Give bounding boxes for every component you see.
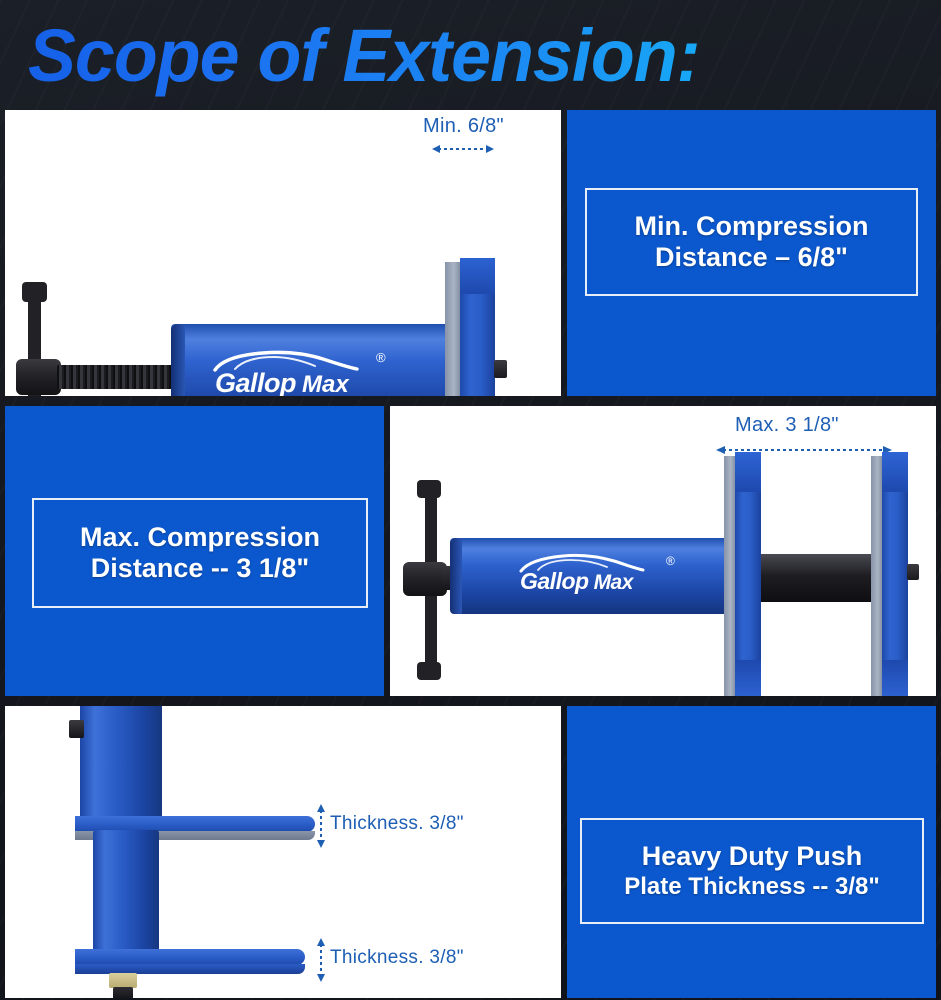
brand-registered-mark: ®	[376, 350, 386, 365]
upper-column	[80, 706, 162, 826]
tool-body-left-cap-ext	[450, 538, 462, 614]
bottom-bolt	[113, 987, 133, 998]
panel-photo-max-compression: Max. 3 1/8" GallopMax ®	[390, 406, 936, 696]
inner-plate-top-bevel	[735, 452, 761, 492]
panel-photo-plate-thickness: Thickness. 3/8" Thickness. 3/8"	[5, 706, 561, 998]
inner-plate-bottom-bevel	[735, 660, 761, 696]
title-bar: Scope of Extension:	[0, 0, 941, 108]
panel-caption-min-compression: Min. Compression Distance – 6/8"	[567, 110, 936, 396]
infographic-page: Scope of Extension: Min. 6/8" Gal	[0, 0, 941, 1000]
brand-registered-mark-ext: ®	[666, 554, 675, 568]
caption-min-line1: Min. Compression	[634, 211, 868, 242]
caption-max-line2: Distance -- 3 1/8"	[91, 553, 309, 584]
middle-column	[93, 830, 159, 952]
caption-max-line1: Max. Compression	[80, 522, 320, 553]
caption-thickness-line2: Plate Thickness -- 3/8"	[624, 873, 879, 901]
dimension-arrow-lower-thickness-icon	[315, 938, 327, 982]
column-side-tab	[69, 720, 84, 738]
outer-plate-bottom-bevel	[882, 660, 908, 696]
caption-min-line2: Distance – 6/8"	[655, 242, 848, 273]
t-handle-hex-boss-ext	[403, 562, 447, 596]
threaded-rod	[57, 365, 173, 389]
inner-shaft	[742, 554, 892, 602]
dimension-arrow-upper-thickness-icon	[315, 804, 327, 848]
panel-caption-plate-thickness: Heavy Duty Push Plate Thickness -- 3/8"	[567, 706, 936, 998]
brass-fitting	[109, 973, 137, 988]
brand-logo: GallopMax	[215, 368, 349, 396]
brand-logo-ext: GallopMax	[520, 568, 633, 595]
brand-logo-ext-word2: Max	[594, 571, 633, 594]
outer-plate-top-bevel	[882, 452, 908, 492]
dimension-label-lower-thickness: Thickness. 3/8"	[330, 947, 464, 969]
push-plate-top-bevel	[460, 258, 495, 294]
brand-logo-word1: Gallop	[215, 368, 296, 396]
t-handle-cap-top-ext	[417, 480, 441, 498]
caption-box-thickness: Heavy Duty Push Plate Thickness -- 3/8"	[580, 818, 924, 924]
t-handle-hex-boss	[16, 359, 61, 395]
caption-box-max: Max. Compression Distance -- 3 1/8"	[32, 498, 368, 608]
caption-box-min: Min. Compression Distance – 6/8"	[585, 188, 918, 296]
center-bolt	[494, 360, 507, 378]
panel-photo-min-compression: Min. 6/8" GallopMax	[5, 110, 561, 396]
page-title: Scope of Extension:	[28, 12, 882, 100]
center-bolt-ext	[907, 564, 919, 580]
push-plate-edge	[445, 262, 461, 396]
lower-push-plate	[75, 949, 305, 965]
caption-thickness-line1: Heavy Duty Push	[642, 841, 863, 872]
brand-logo-ext-word1: Gallop	[520, 568, 589, 594]
dimension-label-upper-thickness: Thickness. 3/8"	[330, 813, 464, 835]
t-handle-cap-top	[22, 282, 47, 302]
dimension-arrow-min-icon	[432, 143, 494, 155]
tool-body-left-cap	[171, 324, 185, 396]
dimension-label-min: Min. 6/8"	[423, 115, 504, 138]
dimension-label-max: Max. 3 1/8"	[735, 414, 839, 437]
brand-logo-word2: Max	[302, 371, 349, 396]
panel-caption-max-compression: Max. Compression Distance -- 3 1/8"	[5, 406, 384, 696]
t-handle-cap-bottom-ext	[417, 662, 441, 680]
